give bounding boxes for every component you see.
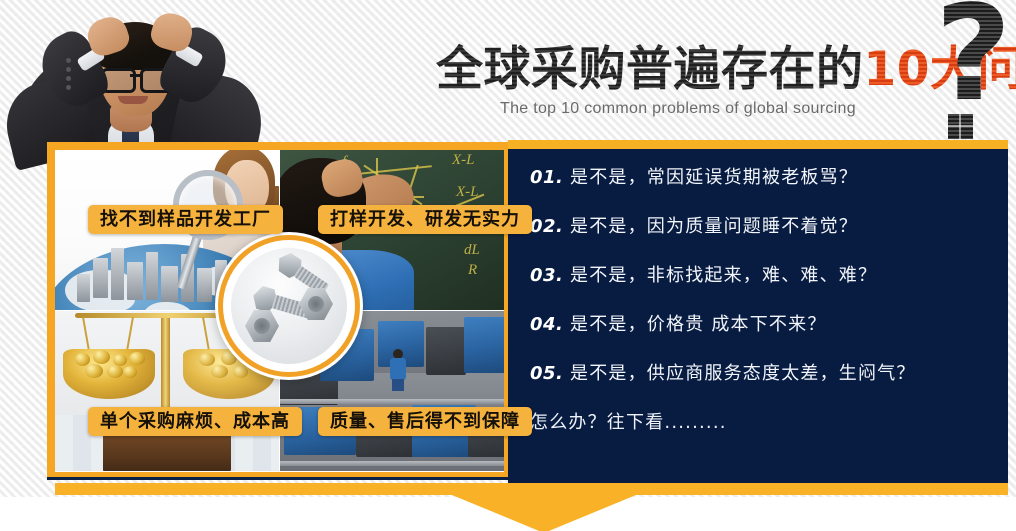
problem-text: 是不是，常因延误货期被老板骂？: [570, 163, 858, 189]
problem-number: 04.: [530, 314, 570, 335]
problems-footer-text: 怎么办？往下看.........: [530, 408, 990, 434]
question-mark-icon: ?: [941, 22, 1016, 142]
poster-stage: 全球采购普遍存在的10大问题 The top 10 common problem…: [0, 0, 1016, 531]
caption-quality-service: 质量、售后得不到保障: [318, 407, 532, 436]
caption-sampling-rd: 打样开发、研发无实力: [318, 205, 532, 234]
problem-number: 03.: [530, 265, 570, 286]
problem-text: 是不是，因为质量问题睡不着觉？: [570, 212, 858, 238]
problem-item: 04. 是不是，价格贵 成本下不来？: [530, 310, 990, 336]
factory-worker: [390, 349, 406, 391]
question-mark-dot: [948, 114, 973, 139]
problems-list: 01. 是不是，常因延误货期被老板骂？ 02. 是不是，因为质量问题睡不着觉？ …: [530, 163, 990, 434]
scale-pan-left: [63, 349, 155, 399]
caption-find-factory: 找不到样品开发工厂: [88, 205, 283, 234]
problem-item: 05. 是不是，供应商服务态度太差，生闷气？: [530, 359, 990, 385]
problem-text: 是不是，价格贵 成本下不来？: [570, 310, 827, 336]
bolts-badge: [215, 232, 363, 380]
bottom-gold-bar: [55, 483, 1008, 495]
problem-text: 是不是，非标找起来，难、难、难？: [570, 261, 877, 287]
problems-panel: 01. 是不是，常因延误货期被老板骂？ 02. 是不是，因为质量问题睡不着觉？ …: [508, 149, 1008, 483]
page-subtitle: The top 10 common problems of global sou…: [500, 100, 856, 118]
caption-single-purchase: 单个采购麻烦、成本高: [88, 407, 302, 436]
problem-item: 03. 是不是，非标找起来，难、难、难？: [530, 261, 990, 287]
problem-number: 05.: [530, 363, 570, 384]
title-main: 全球采购普遍存在的: [436, 42, 864, 97]
fasteners-photo: [231, 248, 347, 364]
problem-number: 02.: [530, 216, 570, 237]
problem-item: 02. 是不是，因为质量问题睡不着觉？: [530, 212, 990, 238]
problem-item: 01. 是不是，常因延误货期被老板骂？: [530, 163, 990, 189]
problem-text: 是不是，供应商服务态度太差，生闷气？: [570, 359, 916, 385]
question-mark-glyph: ?: [935, 0, 1012, 120]
problem-number: 01.: [530, 167, 570, 188]
poster-header: 全球采购普遍存在的10大问题 The top 10 common problem…: [0, 0, 1016, 146]
scroll-down-arrow-icon: [452, 495, 636, 531]
